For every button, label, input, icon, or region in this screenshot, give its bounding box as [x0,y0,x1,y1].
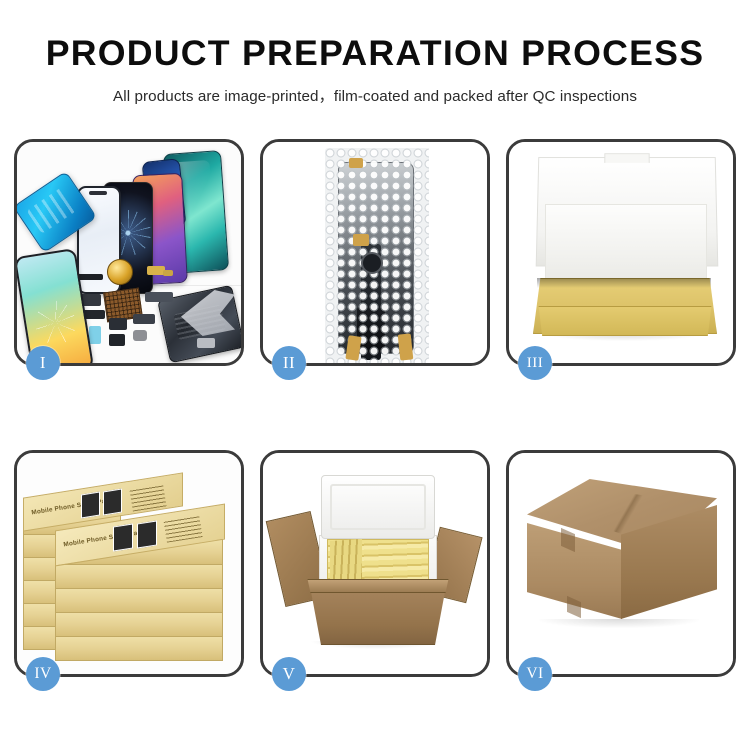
step-badge-2: II [272,346,306,380]
bubble-wrap-bag [325,148,429,363]
panel-4-image: Mobile Phone Spare Parts Mobile Phone Sp… [17,453,241,674]
page-title: PRODUCT PREPARATION PROCESS [0,36,750,73]
box-product-thumbnail [103,488,122,515]
part-icon [109,334,125,346]
step-badge-5: V [272,657,306,691]
page-header: PRODUCT PREPARATION PROCESS All products… [0,0,750,106]
part-icon [133,330,147,341]
drop-shadow [539,619,699,628]
panel-5-image [263,453,487,674]
gold-speaker-icon [107,259,133,285]
foam-box-lid [321,475,435,539]
part-icon [109,318,127,330]
process-step-panel-6[interactable]: VI [506,450,736,677]
process-step-grid: I II III [14,139,736,677]
box-product-thumbnail [81,491,100,518]
step-badge-1: I [26,346,60,380]
part-icon [89,326,101,344]
connector-icon [349,158,363,168]
yellow-boxes-inside [327,539,429,583]
stacked-box [55,563,223,589]
page-subtitle: All products are image-printed，film-coat… [0,84,750,106]
part-icon [145,292,173,302]
camera-ring-icon [361,252,383,274]
part-icon [77,274,103,280]
box-product-thumbnail [137,520,157,548]
part-icon [133,314,155,324]
step-badge-4: IV [26,657,60,691]
panel-6-image [509,453,733,674]
connector-icon [353,234,369,246]
connector-icon [398,333,414,360]
process-step-panel-5[interactable]: V [260,450,490,677]
box-stack: Mobile Phone Spare Parts Mobile Phone Sp… [19,465,241,670]
box-product-thumbnail [113,523,133,551]
panel-1-image [17,142,241,363]
stacked-box [55,611,223,637]
step-badge-3: III [518,346,552,380]
process-step-panel-4[interactable]: Mobile Phone Spare Parts Mobile Phone Sp… [14,450,244,677]
step-badge-6: VI [518,657,552,691]
foam-pad-icon [545,204,707,286]
box-front-panel-icon [535,306,715,336]
connector-icon [345,335,361,361]
process-step-panel-3[interactable]: III [506,139,736,366]
stacked-box [55,635,223,661]
stacked-box [55,587,223,613]
process-step-panel-2[interactable]: II [260,139,490,366]
panel-3-image [509,142,733,363]
box-inner-shadow [537,278,711,288]
phone-parts-scene [17,142,241,363]
panel-2-image [263,142,487,363]
part-icon [197,338,215,348]
process-step-panel-1[interactable]: I [14,139,244,366]
part-icon [163,270,173,276]
carton-rim [303,579,453,593]
